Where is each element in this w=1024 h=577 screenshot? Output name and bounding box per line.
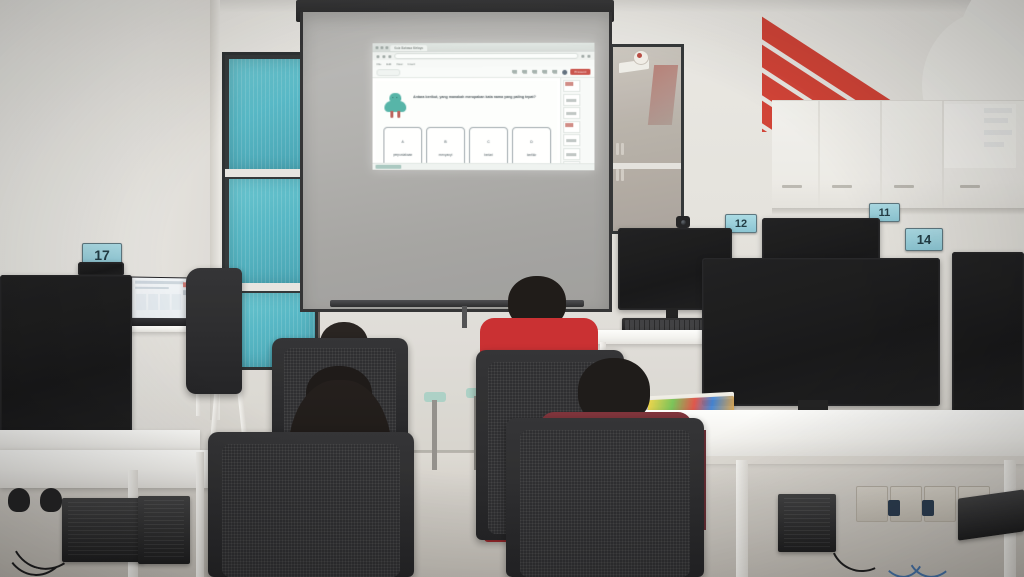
image-tool-icon[interactable]: [522, 69, 527, 74]
monitor-screen: [704, 260, 938, 404]
menu-item-insert[interactable]: Insert: [408, 62, 415, 66]
desk-front-left-top: [0, 450, 220, 488]
monitor-dell-front: [702, 258, 940, 406]
door-handle[interactable]: [621, 143, 624, 155]
pc-tower-vents: [784, 498, 830, 548]
desk-leg: [736, 460, 748, 577]
monitor-stand: [666, 308, 678, 318]
browser-tab[interactable]: Kuiz Bahasa Melayu: [390, 45, 427, 51]
teacher-laptop-screen: [131, 276, 189, 322]
cabinet-divider: [880, 101, 882, 213]
slide-thumbnail[interactable]: [563, 80, 580, 92]
menu-item-view[interactable]: View: [396, 62, 402, 66]
answer-letter: C: [487, 140, 489, 144]
slide-question-text: Antara berikut, yang manakah merupakan k…: [413, 95, 551, 100]
glass-door[interactable]: [610, 44, 684, 234]
window-dot: [380, 46, 383, 49]
search-input[interactable]: [376, 69, 400, 76]
cabinet-handle[interactable]: [782, 185, 802, 188]
slide-thumbnail[interactable]: [563, 134, 580, 146]
pc-tower-right-2: [778, 494, 836, 552]
answer-text: perpustakaan: [391, 152, 414, 156]
comment-tool-icon[interactable]: [552, 69, 557, 74]
classroom-photo-scene: Kuiz Bahasa Melayu File Edit View Insert: [0, 0, 1024, 577]
answer-text: menyanyi: [437, 152, 455, 156]
slide-thumbnail[interactable]: [563, 148, 580, 160]
monitor-back-left: [78, 262, 124, 276]
cabinet-handle[interactable]: [894, 185, 914, 188]
monitor-screen: [80, 264, 122, 274]
chair-front: [286, 444, 406, 577]
toolbar-right-group: Present: [562, 69, 590, 75]
current-slide: Antara berikut, yang manakah merupakan k…: [376, 81, 558, 160]
toolbar-tool-group: [512, 69, 557, 74]
window-dot: [376, 46, 379, 49]
door-handle[interactable]: [621, 169, 624, 181]
back-icon[interactable]: [376, 55, 379, 58]
mascot-body: [384, 101, 406, 112]
projected-presentation-app: Kuiz Bahasa Melayu File Edit View Insert: [373, 43, 595, 171]
mascot-leg: [390, 111, 393, 118]
slide-thumbnail[interactable]: [563, 121, 580, 133]
window-dot: [385, 46, 388, 49]
answer-text: berfikir: [525, 153, 539, 157]
address-bar[interactable]: [394, 53, 578, 60]
mascot-leg: [397, 111, 400, 118]
slide-page-indicator[interactable]: [376, 165, 402, 169]
menu-icon[interactable]: [587, 54, 590, 57]
cabinet-divider: [818, 101, 820, 213]
forward-icon[interactable]: [382, 55, 385, 58]
shape-tool-icon[interactable]: [532, 69, 537, 74]
browser-titlebar: Kuiz Bahasa Melayu: [373, 43, 595, 53]
slide-statusbar: [373, 163, 595, 171]
webcam-lens: [681, 220, 686, 225]
door-handle[interactable]: [616, 169, 619, 181]
cable-plug: [40, 488, 62, 512]
desk-leg: [196, 452, 204, 577]
slide-canvas[interactable]: Antara berikut, yang manakah merupakan k…: [373, 78, 561, 163]
answer-text: berlari: [482, 152, 495, 156]
door-handle[interactable]: [616, 143, 619, 155]
app-toolbar: Present: [373, 67, 595, 78]
avatar[interactable]: [562, 69, 567, 74]
monitor-14: [952, 252, 1024, 412]
text-tool-icon[interactable]: [512, 69, 517, 74]
monitor-screen: [2, 277, 130, 441]
chart-tool-icon[interactable]: [542, 69, 547, 74]
stool-leg: [432, 400, 437, 470]
cabinet-handle[interactable]: [832, 185, 852, 188]
answer-letter: A: [402, 139, 404, 143]
chair-backrest[interactable]: [186, 268, 242, 394]
menu-item-edit[interactable]: Edit: [386, 62, 391, 66]
cable-plug: [8, 488, 30, 512]
door-reflection: [648, 65, 678, 125]
mascot-character-icon: [384, 93, 406, 119]
cabinet-handle[interactable]: [960, 185, 980, 188]
reload-icon[interactable]: [388, 55, 391, 58]
monitor-screen: [954, 254, 1022, 410]
menu-item-file[interactable]: File: [376, 62, 381, 66]
slide-thumbnail[interactable]: [563, 107, 580, 119]
wall-papers: [944, 104, 1016, 168]
slide-thumbnail[interactable]: [563, 93, 580, 105]
desk-sign-14: 14: [905, 228, 943, 251]
present-button[interactable]: Present: [571, 69, 591, 75]
toolbar-left-group: [376, 69, 400, 76]
star-icon[interactable]: [581, 54, 584, 57]
door-sign-dot: [637, 53, 642, 58]
projector-screen-pull-cord[interactable]: [462, 306, 467, 328]
pc-tower: [138, 496, 190, 564]
pc-tower-vents: [144, 500, 184, 560]
chair-mesh: [520, 430, 690, 577]
answer-letter: B: [444, 139, 446, 143]
monitor-front-left: [0, 275, 132, 443]
answer-letter: D: [530, 140, 532, 144]
slide-thumbnail-panel[interactable]: [560, 78, 594, 163]
